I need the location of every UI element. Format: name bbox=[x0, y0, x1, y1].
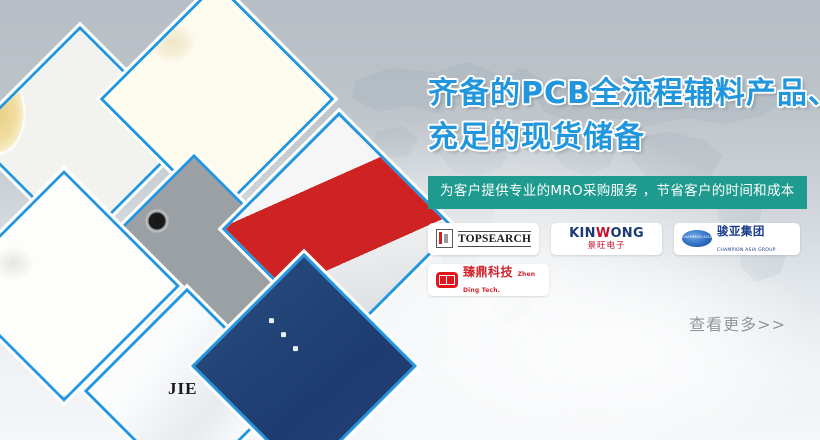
champion-english-label: CHAMPION ASIA GROUP bbox=[717, 248, 776, 253]
diamond-photo-collage: JIE bbox=[0, 18, 386, 440]
banner-content: 齐备的PCB全流程辅料产品、 充足的现货储备 为客户提供专业的MRO采购服务 ，… bbox=[428, 72, 810, 335]
kinwong-chinese-label: 景旺电子 bbox=[569, 242, 644, 251]
subtitle-bar: 为客户提供专业的MRO采购服务 ，节省客户的时间和成本 bbox=[428, 176, 807, 209]
partner-logo-row-2: 臻鼎科技 Zhen Ding Tech. bbox=[428, 264, 800, 296]
topsearch-mark-icon bbox=[436, 229, 453, 248]
partner-logo-topsearch[interactable]: TOPSEARCH bbox=[428, 223, 539, 255]
partner-logo-zhending[interactable]: 臻鼎科技 Zhen Ding Tech. bbox=[428, 264, 549, 296]
zhending-mark-icon bbox=[436, 272, 458, 288]
globe-icon bbox=[682, 230, 712, 247]
headline-line-1: 齐备的PCB全流程辅料产品、 bbox=[428, 72, 810, 116]
partner-logo-row-1: TOPSEARCH KINWONG 景旺电子 骏亚集团 CHAMPION ASI bbox=[428, 223, 800, 255]
kinwong-part-w: W bbox=[596, 226, 611, 241]
hero-banner: JIE 齐备的PCB全流程辅料产品、 充足的现货储备 为客户提供专业的MRO采购… bbox=[0, 0, 820, 440]
topsearch-label: TOPSEARCH bbox=[458, 231, 531, 247]
kinwong-part-a: KIN bbox=[569, 226, 596, 241]
partner-logo-champion-asia[interactable]: 骏亚集团 CHAMPION ASIA GROUP bbox=[674, 223, 800, 255]
bag-label: JIE bbox=[168, 379, 197, 399]
partner-logo-kinwong[interactable]: KINWONG 景旺电子 bbox=[551, 223, 662, 255]
kinwong-wordmark: KINWONG bbox=[569, 227, 644, 240]
kinwong-part-c: ONG bbox=[610, 226, 644, 241]
zhending-chinese-label: 臻鼎科技 bbox=[463, 265, 513, 279]
headline-line-2: 充足的现货储备 bbox=[428, 116, 810, 160]
partner-logo-grid: TOPSEARCH KINWONG 景旺电子 骏亚集团 CHAMPION ASI bbox=[428, 223, 800, 335]
view-more-link[interactable]: 查看更多>> bbox=[689, 311, 786, 335]
more-link-row: 查看更多>> bbox=[428, 305, 800, 335]
champion-chinese-label: 骏亚集团 bbox=[717, 224, 765, 238]
